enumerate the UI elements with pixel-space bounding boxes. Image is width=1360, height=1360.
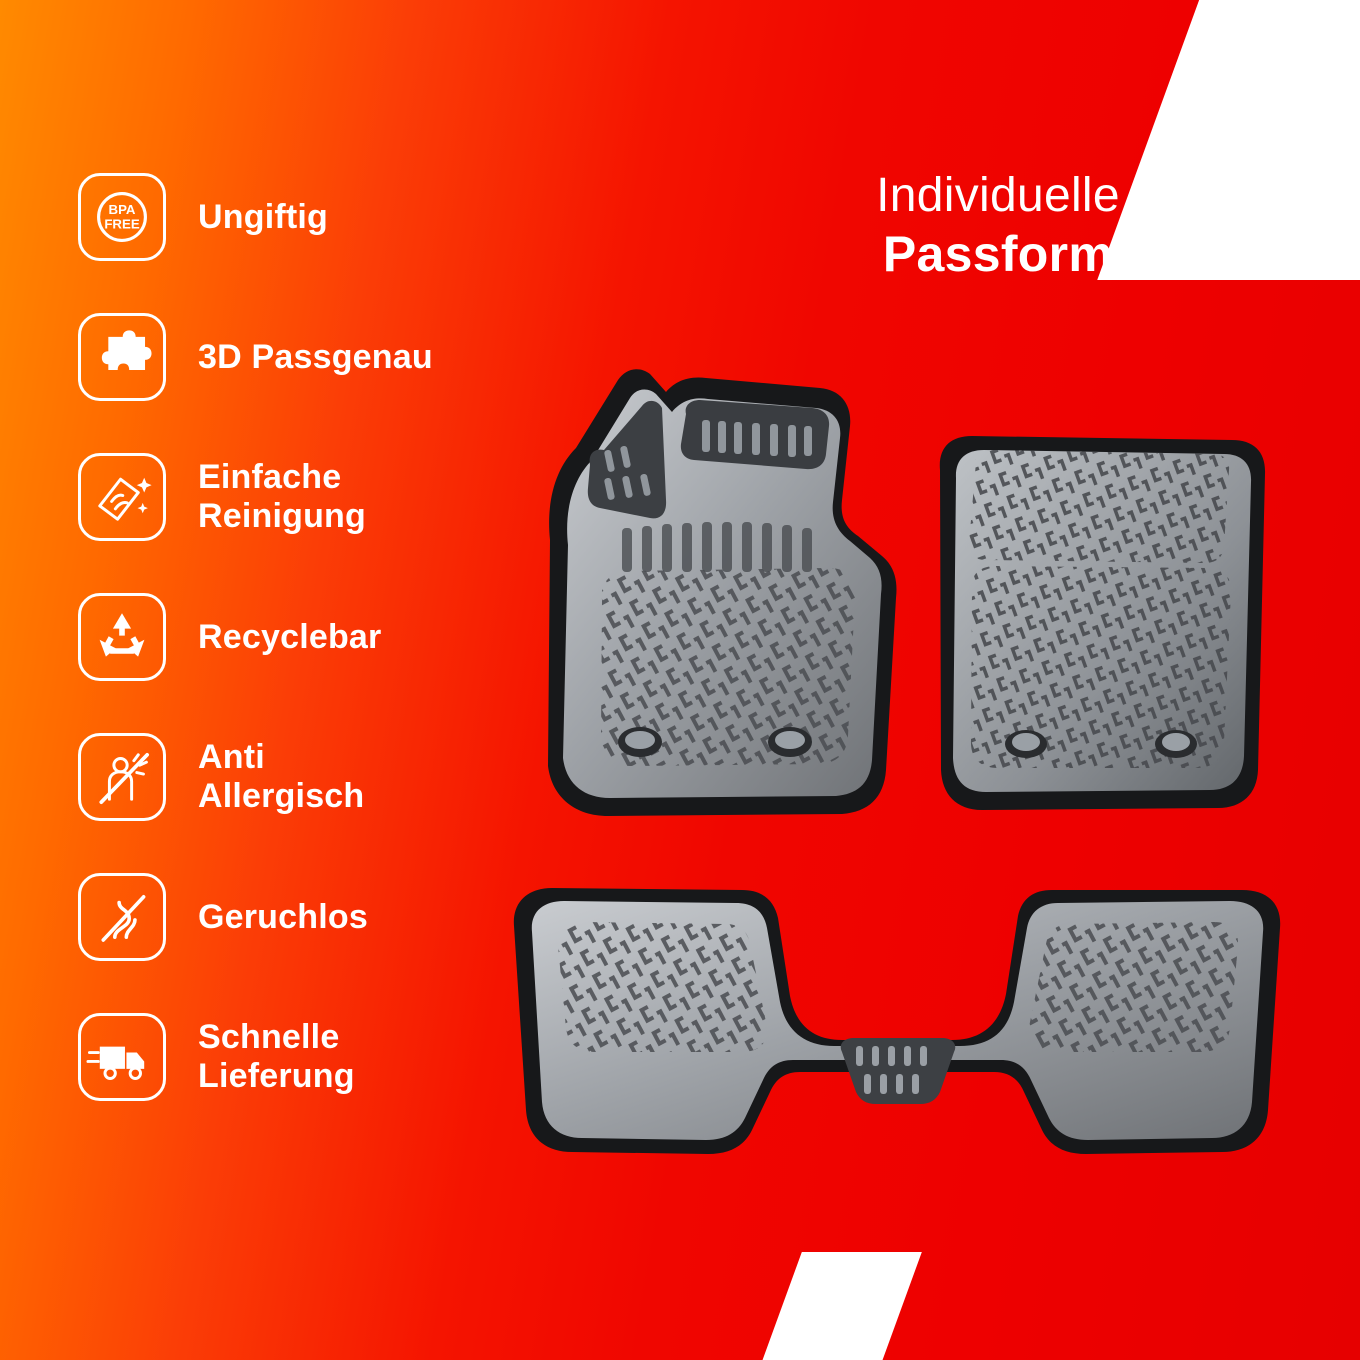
recycle-icon [78,593,166,681]
floor-mats-illustration [490,350,1310,1180]
feature-label: Ungiftig [198,198,328,237]
feature-item-ungiftig: BPA FREE Ungiftig [78,158,548,276]
feature-item-anti-allergisch: Anti Allergisch [78,718,548,836]
no-smell-icon [78,873,166,961]
product-poster: BPA FREE Ungiftig 3D Passgenau [0,0,1360,1360]
rear-bench-mat [514,888,1280,1154]
headline: Individuelle Passform [718,168,1278,284]
feature-label: Schnelle Lieferung [198,1018,355,1096]
product-image-floor-mats [490,350,1310,1180]
feature-item-3d-passgenau: 3D Passgenau [78,298,548,416]
feature-item-recyclebar: Recyclebar [78,578,548,696]
feature-label: Recyclebar [198,618,381,657]
anti-allergy-icon [78,733,166,821]
feature-item-einfache-reinigung: Einfache Reinigung [78,438,548,556]
front-right-mat [940,436,1265,810]
feature-label: 3D Passgenau [198,338,433,377]
feature-label: Anti Allergisch [198,738,364,816]
feature-label: Geruchlos [198,898,368,937]
headline-line1: Individuelle [718,168,1278,225]
headline-line2: Passform [718,225,1278,284]
delivery-truck-icon [78,1013,166,1101]
feature-list: BPA FREE Ungiftig 3D Passgenau [78,158,548,1138]
svg-text:FREE: FREE [104,217,140,232]
feature-label: Einfache Reinigung [198,458,366,536]
svg-text:BPA: BPA [109,202,136,217]
front-left-mat [548,369,896,816]
feature-item-geruchlos: Geruchlos [78,858,548,976]
decorative-slash-bottom [758,1252,922,1360]
cleaning-hand-icon [78,453,166,541]
puzzle-piece-icon [78,313,166,401]
feature-item-schnelle-lieferung: Schnelle Lieferung [78,998,548,1116]
bpa-free-icon: BPA FREE [78,173,166,261]
